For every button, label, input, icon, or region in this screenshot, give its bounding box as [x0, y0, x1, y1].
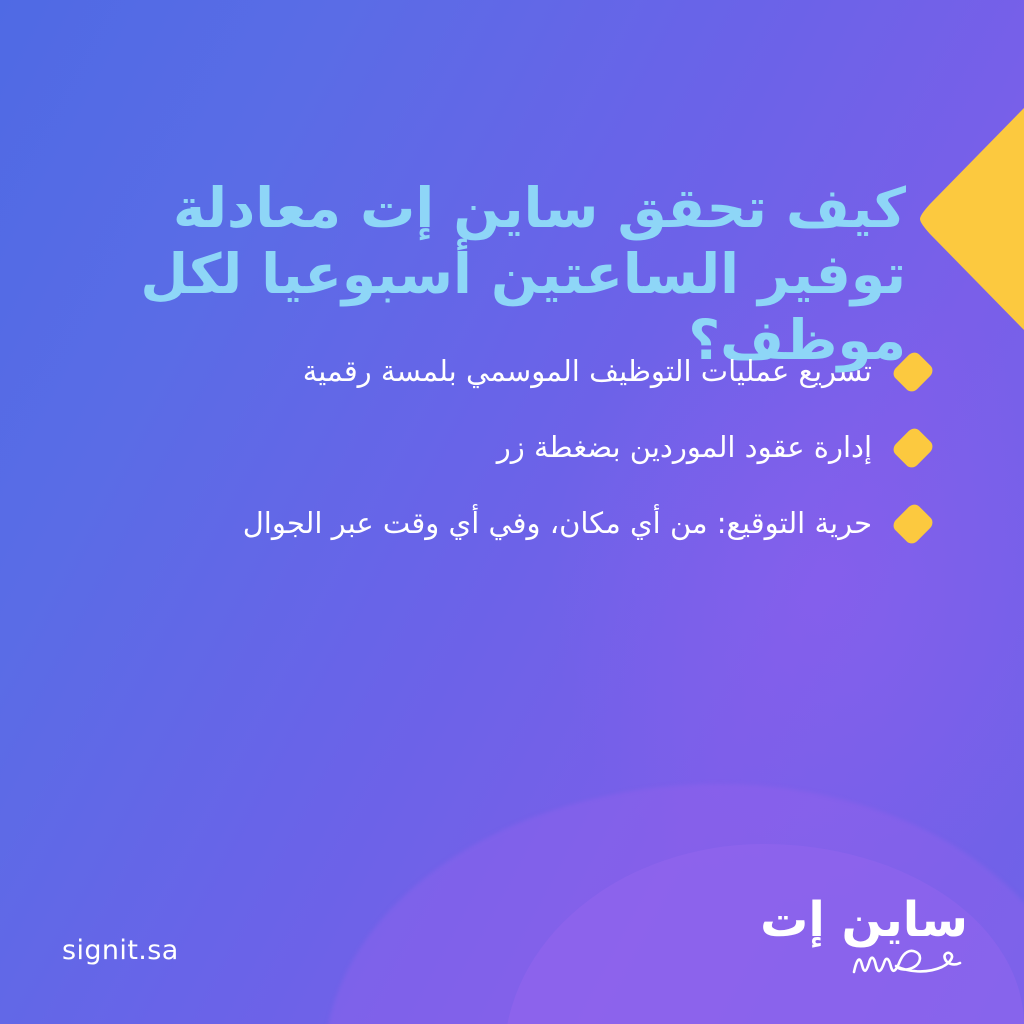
list-item: إدارة عقود الموردين بضغطة زر: [60, 428, 928, 467]
brand-wordmark: ساين إت: [738, 896, 968, 944]
list-item: تسريع عمليات التوظيف الموسمي بلمسة رقمية: [60, 352, 928, 391]
handwritten-signature-icon: [738, 946, 968, 980]
diamond-icon: [891, 349, 936, 394]
list-item-label: تسريع عمليات التوظيف الموسمي بلمسة رقمية: [60, 352, 872, 391]
benefit-list: تسريع عمليات التوظيف الموسمي بلمسة رقمية…: [60, 352, 928, 580]
list-item: حرية التوقيع: من أي مكان، وفي أي وقت عبر…: [60, 504, 928, 543]
site-url[interactable]: signit.sa: [62, 935, 179, 966]
brand-logo: ساين إت: [738, 896, 968, 980]
left-pointing-arrow-icon: [904, 108, 1024, 330]
social-card: كيف تحقق ساين إت معادلة توفير الساعتين أ…: [0, 0, 1024, 1024]
list-item-label: إدارة عقود الموردين بضغطة زر: [60, 428, 872, 467]
diamond-icon: [891, 501, 936, 546]
list-item-label: حرية التوقيع: من أي مكان، وفي أي وقت عبر…: [60, 504, 872, 543]
diamond-icon: [891, 425, 936, 470]
page-title: كيف تحقق ساين إت معادلة توفير الساعتين أ…: [118, 175, 906, 373]
